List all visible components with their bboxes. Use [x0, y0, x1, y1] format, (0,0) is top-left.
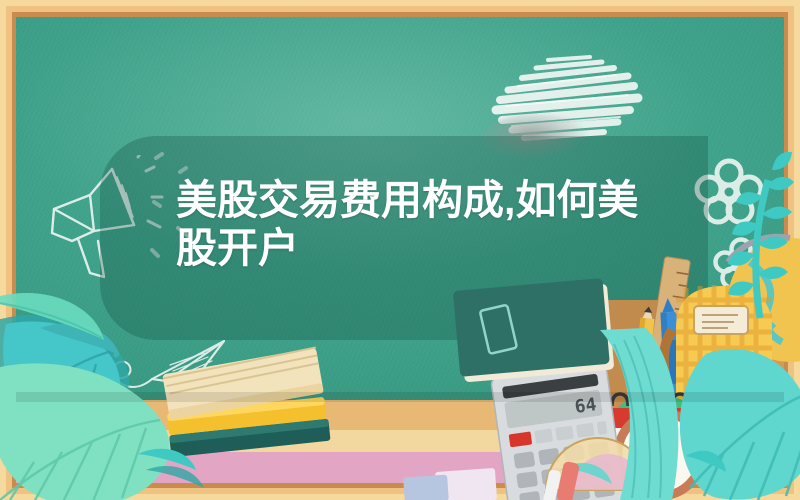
title-line-2: 股开户	[176, 224, 696, 272]
page-title: 美股交易费用构成,如何美 股开户	[176, 176, 696, 272]
title-line-1: 美股交易费用构成,如何美	[176, 176, 696, 224]
poster-canvas: 美股交易费用构成,如何美 股开户	[0, 0, 800, 500]
